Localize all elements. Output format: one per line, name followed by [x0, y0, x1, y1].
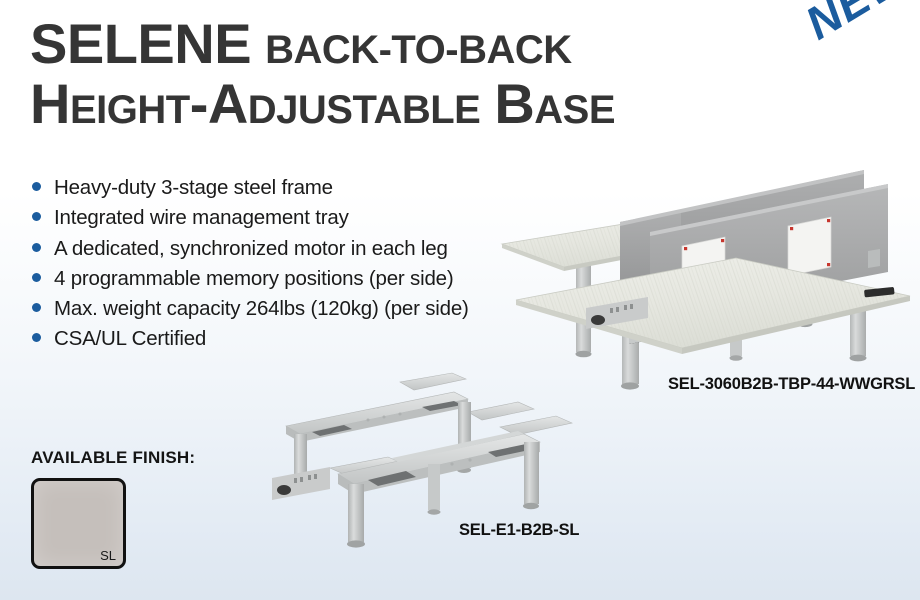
title-configuration: BACK-TO-BACK: [265, 28, 572, 72]
bullet-dot-icon: [32, 182, 41, 191]
title-base-cap: B: [494, 72, 534, 135]
available-finish-heading: AVAILABLE FINISH:: [31, 448, 195, 468]
frame-rear-beam: [286, 392, 468, 442]
screen-bracket: [868, 249, 880, 268]
list-item: A dedicated, synchronized motor in each …: [32, 237, 577, 261]
new-badge: NEW: [796, 0, 918, 50]
product-code-desk: SEL-3060B2B-TBP-44-WWGRSL: [668, 375, 915, 394]
feature-text: Heavy-duty 3-stage steel frame: [54, 176, 333, 200]
list-item: Max. weight capacity 264lbs (120kg) (per…: [32, 297, 577, 321]
feature-text: Integrated wire management tray: [54, 206, 349, 230]
bullet-dot-icon: [32, 303, 41, 312]
title-adjustable-rest: DJUSTABLE: [248, 88, 481, 132]
feature-text: 4 programmable memory positions (per sid…: [54, 267, 453, 291]
page-title: SELENEBACK-TO-BACK HEIGHT-ADJUSTABLEBASE: [30, 16, 615, 132]
product-image-desk-with-top: [498, 148, 920, 398]
feature-text: Max. weight capacity 264lbs (120kg) (per…: [54, 297, 469, 321]
list-item: Heavy-duty 3-stage steel frame: [32, 176, 577, 200]
product-code-frame: SEL-E1-B2B-SL: [459, 521, 579, 540]
list-item: CSA/UL Certified: [32, 327, 577, 351]
feature-list: Heavy-duty 3-stage steel frame Integrate…: [32, 176, 577, 358]
frame-front-top-bar-right: [500, 416, 572, 435]
list-item: 4 programmable memory positions (per sid…: [32, 267, 577, 291]
frame-rear-top-bar-right: [400, 373, 466, 390]
finish-swatch-sl[interactable]: SL: [31, 478, 126, 569]
bullet-dot-icon: [32, 243, 41, 252]
title-line-2: HEIGHT-ADJUSTABLEBASE: [30, 76, 615, 132]
product-poster: NEW SELENEBACK-TO-BACK HEIGHT-ADJUSTABLE…: [0, 0, 920, 600]
bullet-dot-icon: [32, 273, 41, 282]
title-line-1: SELENEBACK-TO-BACK: [30, 16, 615, 72]
title-base-rest: ASE: [534, 88, 615, 132]
title-height-rest: EIGHT: [70, 88, 190, 132]
finish-swatch-code: SL: [100, 548, 116, 563]
title-brand: SELENE: [30, 12, 251, 75]
frame-rear-top-bar-left: [468, 402, 534, 420]
list-item: Integrated wire management tray: [32, 206, 577, 230]
feature-text: A dedicated, synchronized motor in each …: [54, 237, 448, 261]
available-finish-section: AVAILABLE FINISH: SL: [31, 448, 195, 569]
bullet-dot-icon: [32, 333, 41, 342]
bullet-dot-icon: [32, 212, 41, 221]
title-height-cap: H: [30, 72, 70, 135]
title-adjustable-cap: -A: [190, 72, 248, 135]
pinned-paper-right: [788, 217, 831, 276]
feature-text: CSA/UL Certified: [54, 327, 206, 351]
